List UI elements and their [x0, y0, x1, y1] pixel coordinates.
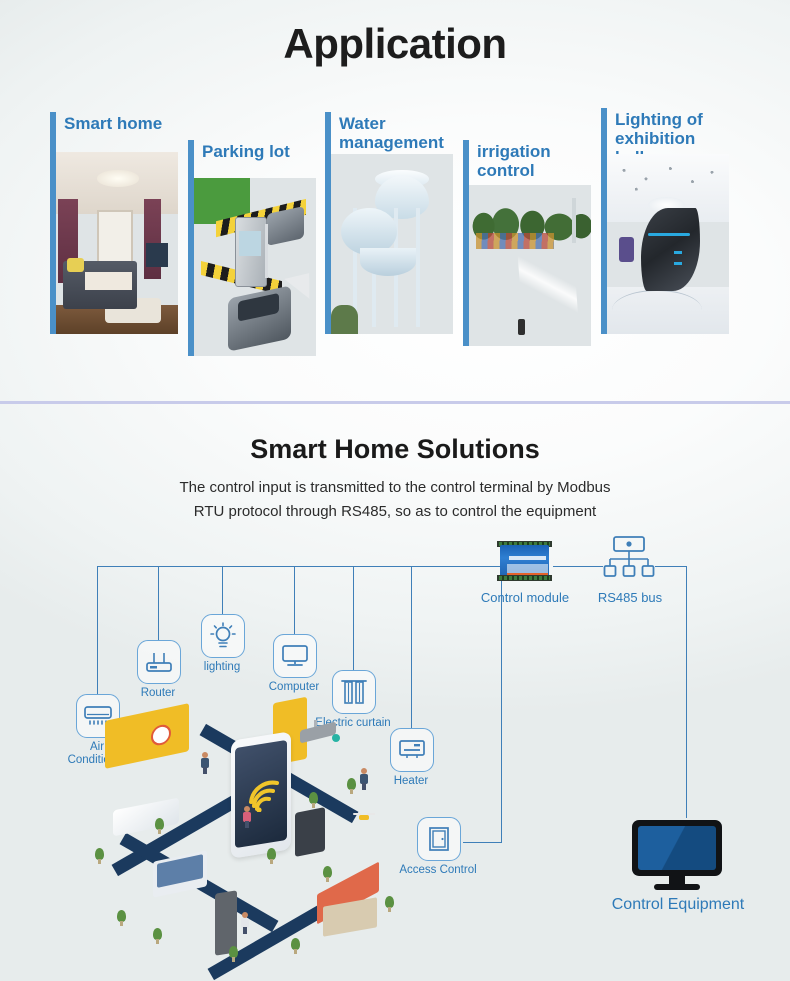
iso-tree — [229, 946, 238, 962]
card-thumbnail-exhibition-hall — [607, 154, 729, 334]
device-label: lighting — [167, 661, 277, 674]
control-equipment-label: Control Equipment — [548, 896, 790, 914]
smart-home-illustration — [95, 700, 435, 965]
smart-home-title: Smart Home Solutions — [0, 434, 790, 465]
card-label: Parking lot — [202, 142, 290, 161]
iso-security-camera — [300, 720, 344, 750]
iso-person — [243, 806, 251, 828]
iso-tree — [153, 928, 162, 944]
branch-line-access-control — [463, 842, 502, 843]
drop-line-router — [158, 566, 159, 640]
rs485-bus-label: RS485 bus — [580, 590, 680, 605]
application-card-lighting-exhibition-hall[interactable]: Lighting of exhibition hall — [601, 108, 729, 334]
application-card-smart-home[interactable]: Smart home — [50, 112, 178, 334]
iso-television — [105, 703, 189, 769]
drop-line-lighting — [222, 566, 223, 614]
drop-line-computer — [294, 566, 295, 634]
iso-tree — [347, 778, 356, 794]
iso-house — [317, 878, 393, 934]
iso-tree — [323, 866, 332, 882]
application-card-irrigation-control[interactable]: irrigation control — [463, 140, 591, 346]
card-thumbnail-irrigation — [469, 185, 591, 346]
monitor-icon — [273, 634, 317, 678]
network-bus-icon — [603, 536, 655, 580]
application-card-water-management[interactable]: Water management — [325, 112, 453, 334]
page-root: Application Smart home Parking lot — [0, 0, 790, 981]
control-module-device[interactable] — [497, 541, 552, 581]
card-thumbnail-bedroom — [56, 152, 178, 334]
bus-line-rs485-to-right — [655, 566, 687, 567]
device-label: Router — [103, 687, 213, 700]
iso-person — [360, 768, 368, 790]
iso-person — [241, 912, 249, 934]
iso-tree — [267, 848, 276, 864]
card-label: Smart home — [64, 114, 162, 133]
iso-speaker — [295, 807, 325, 857]
iso-drone — [353, 812, 375, 822]
iso-tree — [291, 938, 300, 954]
drop-line-access-control — [501, 566, 502, 843]
drop-line-air-conditioner — [97, 566, 98, 694]
light-bulb-icon — [201, 614, 245, 658]
device-node-computer[interactable]: Computer — [273, 634, 315, 694]
page-title: Application — [0, 20, 790, 68]
application-card-parking-lot[interactable]: Parking lot — [188, 140, 316, 356]
card-label: irrigation control — [477, 142, 551, 180]
drop-line-electric-curtain — [353, 566, 354, 670]
application-section: Application Smart home Parking lot — [0, 0, 790, 403]
bus-line-module-to-rs485 — [553, 566, 603, 567]
card-thumbnail-parking — [194, 178, 316, 356]
card-label: Water management — [339, 114, 444, 152]
desktop-monitor-icon[interactable] — [632, 820, 722, 890]
device-node-lighting[interactable]: lighting — [201, 614, 243, 674]
iso-tree — [95, 848, 104, 864]
iso-tree — [117, 910, 126, 926]
iso-person — [201, 752, 209, 774]
iso-tree — [309, 792, 318, 808]
iso-wifi-icon — [247, 778, 283, 812]
iso-tree — [385, 896, 394, 912]
smart-home-subtitle: The control input is transmitted to the … — [0, 476, 790, 524]
card-thumbnail-water-tower — [331, 154, 453, 334]
control-module-label: Control module — [470, 590, 580, 605]
drop-line-control-equipment — [686, 566, 687, 818]
iso-tree — [155, 818, 164, 834]
